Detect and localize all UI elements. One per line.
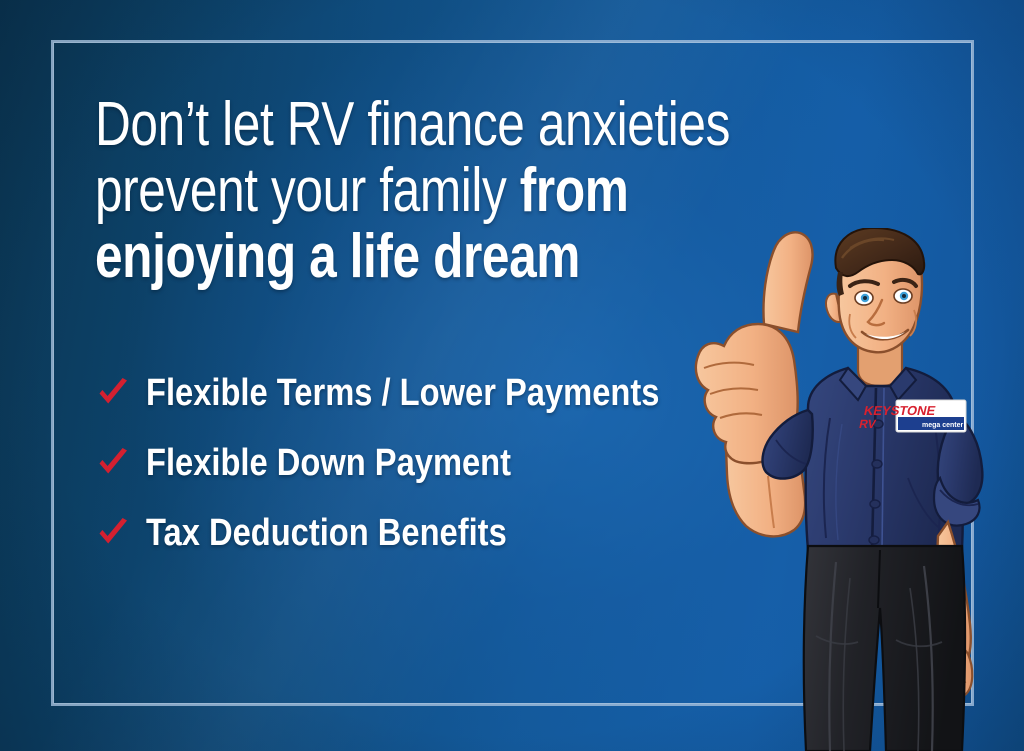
mascot-head xyxy=(826,228,924,386)
benefits-list: Flexible Terms / Lower Payments Flexible… xyxy=(96,358,756,568)
list-item: Flexible Down Payment xyxy=(96,428,756,498)
patch-brand-sub: RV xyxy=(858,417,877,431)
list-item-label: Flexible Terms / Lower Payments xyxy=(146,373,659,413)
headline-line-1: Don’t let RV finance anxieties xyxy=(95,92,679,158)
patch-brand: KEYSTONE xyxy=(863,403,938,418)
list-item: Tax Deduction Benefits xyxy=(96,498,756,568)
thumbs-up-arm xyxy=(696,232,813,536)
patch-tagline: mega center xyxy=(922,422,964,429)
mascot-pants xyxy=(804,546,965,751)
check-icon xyxy=(96,376,130,410)
promo-banner: Don’t let RV finance anxieties prevent y… xyxy=(0,0,1024,751)
headline-line-3: enjoying a life dream xyxy=(95,224,679,290)
list-item: Flexible Terms / Lower Payments xyxy=(96,358,756,428)
headline-line-2-emphasis: from xyxy=(520,156,629,225)
headline-line-2-regular: prevent your family xyxy=(95,156,520,225)
check-icon xyxy=(96,446,130,480)
check-icon xyxy=(96,516,130,550)
list-item-label: Tax Deduction Benefits xyxy=(146,513,507,553)
mascot-illustration: KEYSTONE RV mega center xyxy=(690,228,1024,751)
shirt-logo-patch: KEYSTONE RV mega center xyxy=(858,400,966,432)
list-item-label: Flexible Down Payment xyxy=(146,443,511,483)
headline-line-2: prevent your family from xyxy=(95,158,679,224)
